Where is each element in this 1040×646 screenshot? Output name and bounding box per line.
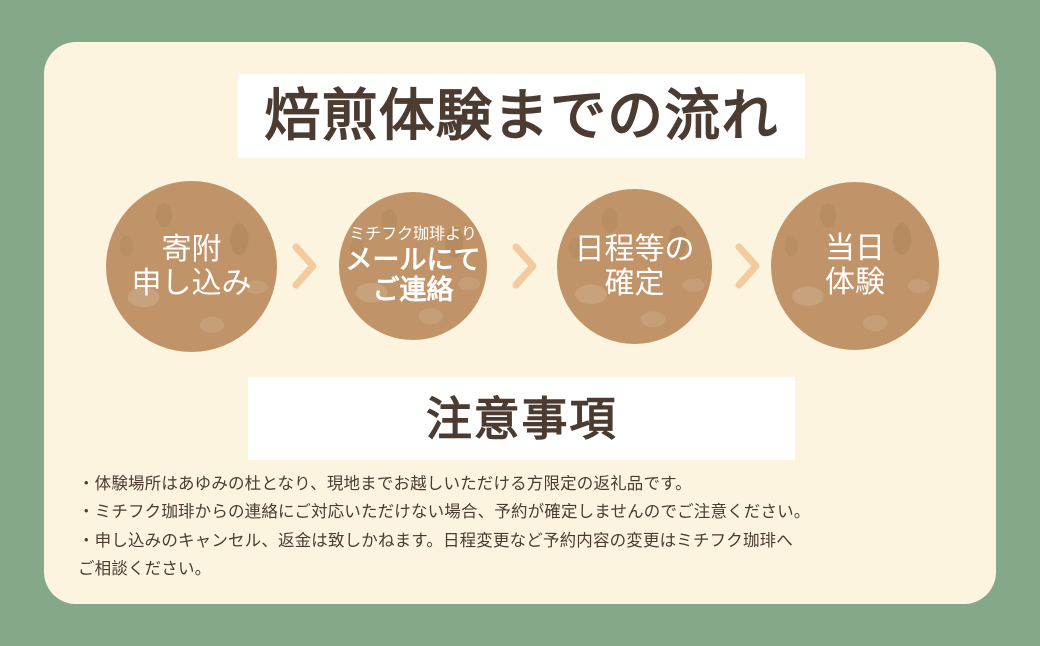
flow-step-3-line1: 日程等の <box>575 233 695 267</box>
flow-step-1: 寄附 申し込み <box>106 181 277 352</box>
flow-step-2-line2: ご連絡 <box>346 275 481 305</box>
poster-canvas: 焙煎体験までの流れ 寄附 申し込み ミチフク珈琲より メールにて ご連絡 <box>0 0 1040 646</box>
flow-step-2-line1: メールにて <box>346 245 481 275</box>
notes-list: ・体験場所はあゆみの杜となり、現地までお越しいただける方限定の返礼品です。 ・ミ… <box>78 470 978 584</box>
note-item: ・体験場所はあゆみの杜となり、現地までお越しいただける方限定の返礼品です。 <box>78 470 978 498</box>
note-item-continuation: ご相談ください。 <box>78 555 978 583</box>
flow-step-2-labels: ミチフク珈琲より メールにて ご連絡 <box>346 226 481 305</box>
content-card: 焙煎体験までの流れ 寄附 申し込み ミチフク珈琲より メールにて ご連絡 <box>44 42 996 604</box>
flow-step-3: 日程等の 確定 <box>557 189 712 344</box>
flow-step-1-line2: 申し込み <box>132 267 252 301</box>
flow-step-1-line1: 寄附 <box>132 233 252 267</box>
flow-step-3-labels: 日程等の 確定 <box>575 233 695 300</box>
notice-title-band: 注意事項 <box>248 377 795 460</box>
flow-step-2-small: ミチフク珈琲より <box>346 226 481 244</box>
flow-step-4: 当日 体験 <box>771 182 939 350</box>
notice-title: 注意事項 <box>426 396 617 442</box>
chevron-right-icon <box>291 242 319 290</box>
chevron-right-icon <box>734 242 762 290</box>
flow-step-2: ミチフク珈琲より メールにて ご連絡 <box>339 192 487 340</box>
flow-title-band: 焙煎体験までの流れ <box>238 74 805 158</box>
flow-step-4-line1: 当日 <box>825 232 885 266</box>
flow-step-4-labels: 当日 体験 <box>825 232 885 299</box>
note-item: ・申し込みのキャンセル、返金は致しかねます。日程変更など予約内容の変更はミチフク… <box>78 527 978 555</box>
chevron-right-icon <box>511 242 539 290</box>
flow-step-3-line2: 確定 <box>575 267 695 301</box>
flow-step-1-labels: 寄附 申し込み <box>132 233 252 300</box>
page-title: 焙煎体験までの流れ <box>264 88 778 144</box>
note-item: ・ミチフク珈琲からの連絡にご対応いただけない場合、予約が確定しませんのでご注意く… <box>78 498 978 526</box>
flow-step-4-line2: 体験 <box>825 266 885 300</box>
